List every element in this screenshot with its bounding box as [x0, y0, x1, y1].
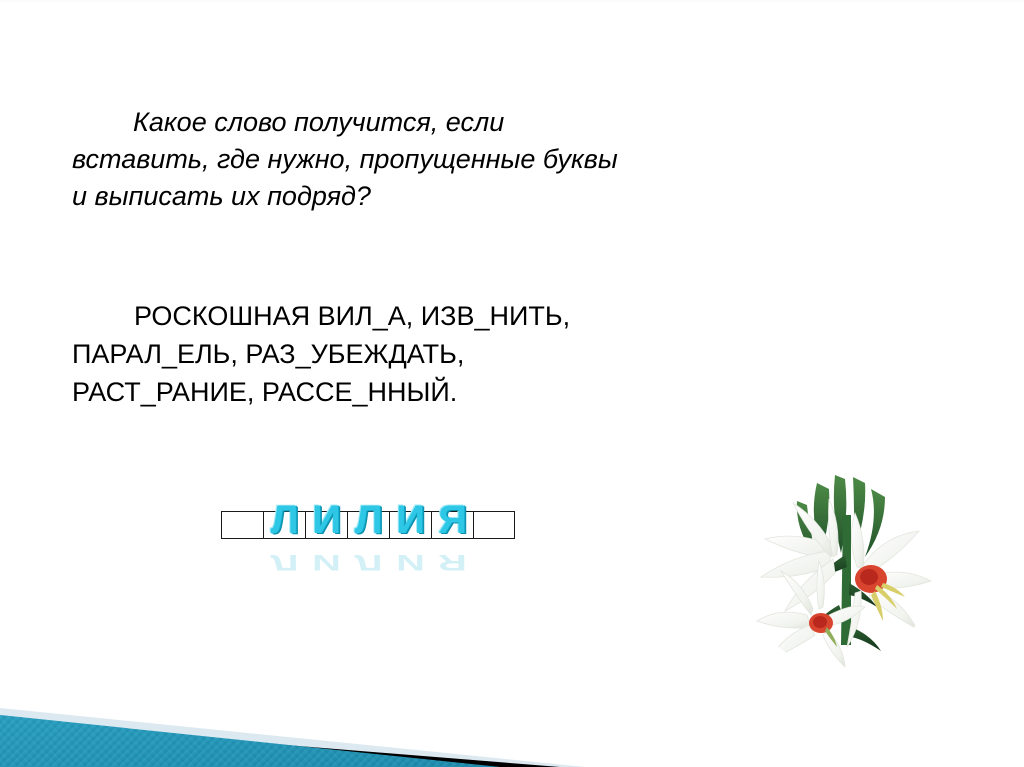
answer-cell[interactable]: [221, 511, 263, 539]
answer-cell[interactable]: Я Я: [431, 511, 473, 539]
black-band: [0, 722, 560, 767]
answer-cell[interactable]: Л Л: [347, 511, 389, 539]
corner-diagonal-bands: [0, 622, 700, 767]
exercise-text-block: РОСКОШНАЯ ВИЛ_А, ИЗВ_НИТЬ, ПАРАЛ_ЕЛЬ, РА…: [72, 297, 752, 411]
answer-word-grid: Л Л И И Л Л И И Я Я: [221, 511, 515, 539]
answer-cell[interactable]: И И: [389, 511, 431, 539]
answer-cell[interactable]: [473, 511, 515, 539]
top-hairline-divider: [0, 0, 1024, 2]
question-line-2: вставить, где нужно, пропущенные буквы: [72, 141, 712, 178]
answer-letter-reflection: И: [312, 551, 341, 573]
answer-letter: И: [312, 500, 341, 540]
answer-letter: Л: [354, 500, 382, 540]
answer-letter: Я: [438, 500, 467, 540]
exercise-line-2: ПАРАЛ_ЕЛЬ, РАЗ_УБЕЖДАТЬ,: [72, 335, 752, 373]
answer-cell[interactable]: И И: [305, 511, 347, 539]
pale-blue-band: [0, 708, 585, 767]
exercise-line-3: РАСТ_РАНИЕ, РАССЕ_ННЫЙ.: [72, 373, 752, 411]
answer-cell[interactable]: Л Л: [263, 511, 305, 539]
teal-band: [0, 715, 500, 767]
slide-canvas: Какое слово получится, если вставить, гд…: [0, 0, 1024, 767]
question-line-3: и выписать их подряд?: [72, 178, 712, 215]
lily-flower-image: [735, 455, 940, 670]
question-text-block: Какое слово получится, если вставить, гд…: [72, 104, 712, 215]
question-line-1: Какое слово получится, если: [72, 104, 712, 141]
answer-letter-reflection: И: [396, 551, 425, 573]
exercise-line-1: РОСКОШНАЯ ВИЛ_А, ИЗВ_НИТЬ,: [72, 297, 752, 335]
answer-letter: Л: [270, 500, 298, 540]
answer-letter-reflection: Я: [438, 551, 467, 573]
answer-letter-reflection: Л: [354, 551, 382, 573]
answer-letter: И: [396, 500, 425, 540]
answer-letter-reflection: Л: [270, 551, 298, 573]
